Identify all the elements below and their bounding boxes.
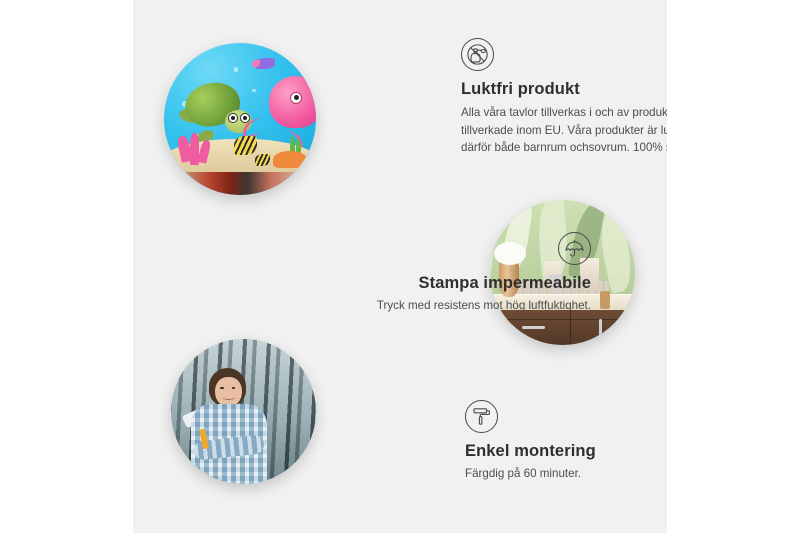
feature-block-waterproof: Stampa impermeabile Tryck med resistens …	[351, 232, 591, 315]
photo-forest-painter	[171, 339, 316, 484]
feature-block-easy-mounting: Enkel montering Färgdig på 60 minuter.	[465, 400, 667, 483]
drawer-handle	[522, 326, 545, 329]
product-feature-page: Luktfri produkt Alla våra tavlor tillver…	[0, 0, 800, 533]
bottle	[600, 291, 610, 308]
starfish	[273, 151, 306, 168]
feature-title: Luktfri produkt	[461, 80, 667, 99]
overlapping-photo-strip	[164, 172, 316, 195]
content-panel: Luktfri produkt Alla våra tavlor tillver…	[133, 0, 667, 533]
no-fragrance-icon	[461, 38, 494, 71]
photo-sea-life	[164, 43, 316, 195]
feature-description: Färgdig på 60 minuter.	[465, 465, 667, 483]
feature-title: Enkel montering	[465, 442, 667, 461]
cabinet-seam	[490, 319, 635, 321]
feature-title: Stampa impermeabile	[351, 274, 591, 293]
feature-block-odourless: Luktfri produkt Alla våra tavlor tillver…	[461, 38, 667, 157]
woman-face	[215, 377, 243, 407]
cabinet-seam	[570, 310, 572, 345]
woman-eye	[220, 387, 223, 389]
door-handle	[599, 319, 602, 342]
vanity-cabinet	[490, 310, 635, 345]
umbrella-icon	[558, 232, 591, 265]
turtle-eye	[228, 113, 238, 123]
woman-smile	[222, 394, 235, 400]
octopus-eye	[290, 92, 302, 104]
fish-butterfly	[234, 136, 257, 156]
feature-description: Tryck med resistens mot hög luftfuktighe…	[351, 297, 591, 315]
feature-description: Alla våra tavlor tillverkas i och av pro…	[461, 104, 667, 157]
paint-roller-icon	[465, 400, 498, 433]
